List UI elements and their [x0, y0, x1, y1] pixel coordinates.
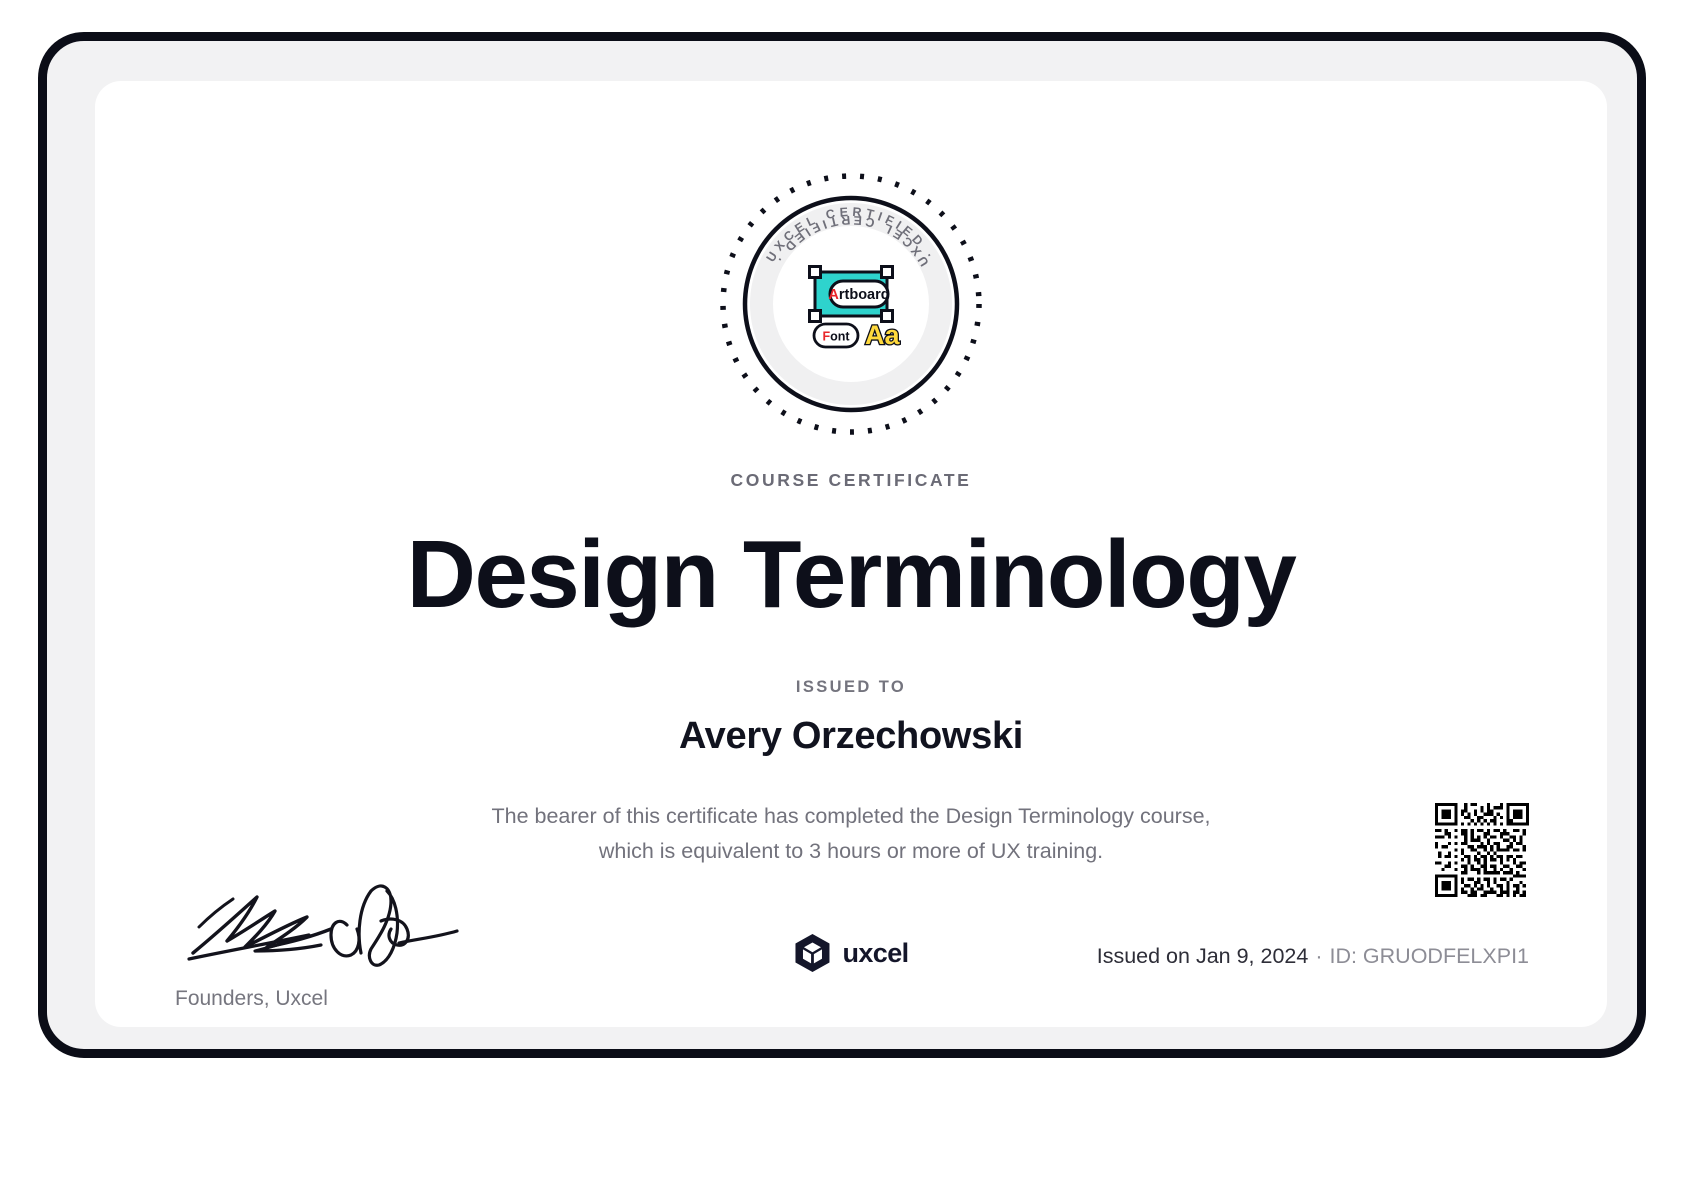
uxcel-cube-hexagon-icon [793, 933, 831, 973]
certificate-body: The bearer of this certificate has compl… [401, 799, 1301, 870]
svg-text:Font: Font [822, 330, 850, 344]
brand-logo: uxcel [793, 933, 908, 973]
type-sample-glyph: Aa [865, 320, 900, 350]
certificate-outer-frame: UXCEL CERTIFIED · UXCEL CERTIFIED · Ar [38, 32, 1646, 1058]
eyebrow-label: COURSE CERTIFICATE [95, 470, 1607, 491]
page-title: Design Terminology [95, 525, 1607, 626]
founders-signature-icon [175, 881, 475, 973]
body-line-1: The bearer of this certificate has compl… [401, 799, 1301, 834]
artboard-icon: Artboard [810, 267, 893, 322]
issued-on-date: Issued on Jan 9, 2024 [1097, 944, 1309, 968]
body-line-2: which is equivalent to 3 hours or more o… [401, 834, 1301, 869]
signature-block: Founders, Uxcel [175, 881, 595, 1011]
uxcel-certified-seal: UXCEL CERTIFIED · UXCEL CERTIFIED · Ar [716, 169, 986, 439]
issued-to-label: ISSUED TO [95, 678, 1607, 697]
recipient-name: Avery Orzechowski [95, 715, 1607, 758]
certificate-id: ID: GRUODFELXPI1 [1329, 944, 1529, 968]
issue-info-separator: · [1315, 944, 1322, 968]
brand-name: uxcel [842, 938, 908, 969]
certificate-card: UXCEL CERTIFIED · UXCEL CERTIFIED · Ar [95, 81, 1607, 1027]
signature-caption: Founders, Uxcel [175, 987, 595, 1011]
svg-text:Artboard: Artboard [828, 287, 889, 303]
issue-info: Issued on Jan 9, 2024·ID: GRUODFELXPI1 [1097, 944, 1529, 969]
verification-qr-code[interactable] [1435, 803, 1529, 897]
